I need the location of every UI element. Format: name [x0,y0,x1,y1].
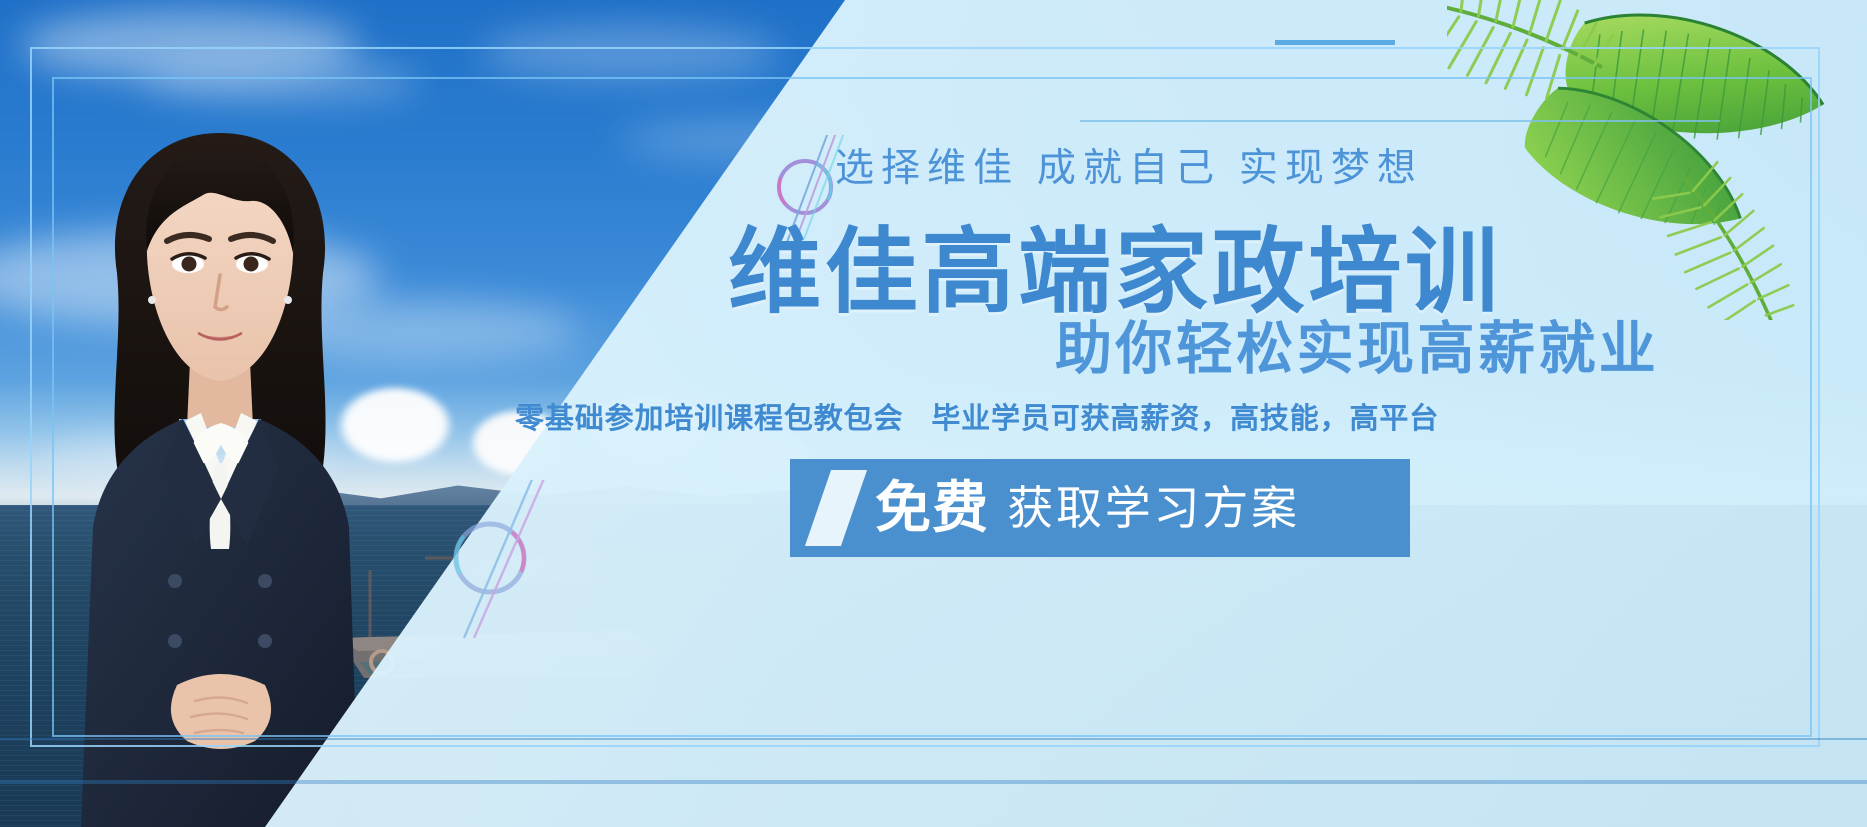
body-copy-right: 毕业学员可获高薪资，高技能，高平台 [931,403,1439,435]
body-copy: 零基础参加培训课程包教包会毕业学员可获高薪资，高技能，高平台 [515,395,1439,437]
cta-highlight: 免费 [875,480,989,536]
slash-ornament-icon [805,470,867,546]
tagline: 选择维佳 成就自己 实现梦想 [835,137,1423,193]
cta-label: 获取学习方案 [1007,485,1300,531]
promo-banner: 选择维佳 成就自己 实现梦想 维佳高端家政培训 助你轻松实现高薪就业 零基础参加… [0,0,1867,827]
banner-content: 选择维佳 成就自己 实现梦想 维佳高端家政培训 助你轻松实现高薪就业 零基础参加… [500,0,1867,827]
body-copy-left: 零基础参加培训课程包教包会 [515,403,903,435]
cta-button[interactable]: 免费 获取学习方案 [790,459,1410,557]
subheadline: 助你轻松实现高薪就业 [1055,303,1659,385]
